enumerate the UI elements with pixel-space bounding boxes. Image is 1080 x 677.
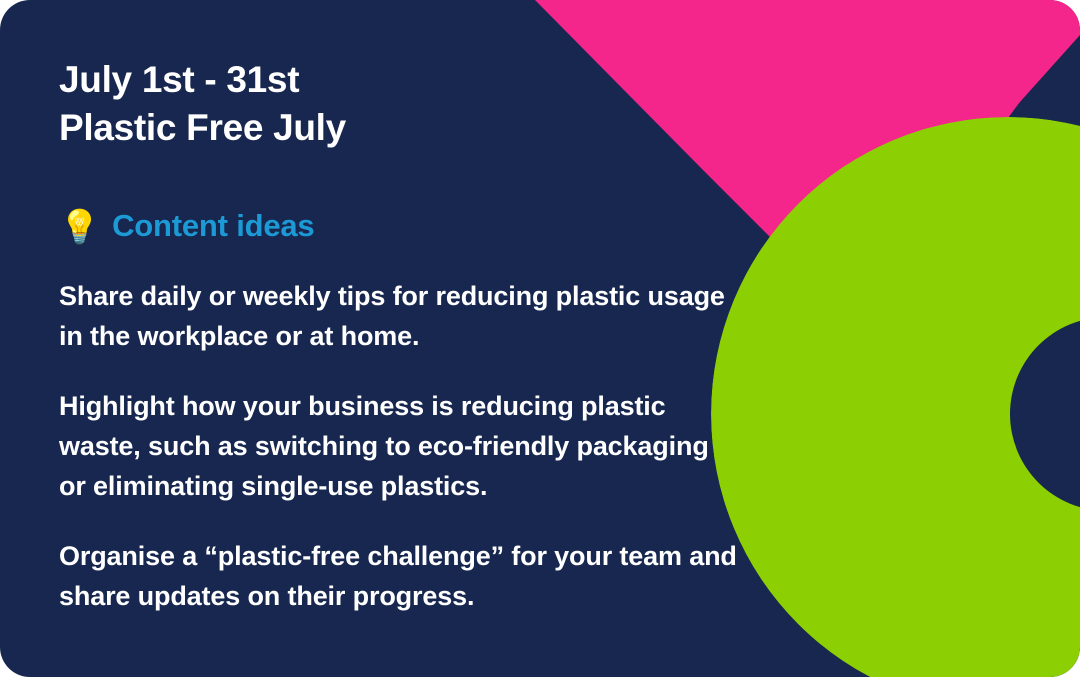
card-content: July 1st - 31st Plastic Free July 💡 Cont… <box>0 0 760 617</box>
content-ideas-card: July 1st - 31st Plastic Free July 💡 Cont… <box>0 0 1080 677</box>
page-title: July 1st - 31st Plastic Free July <box>59 56 760 152</box>
pink-arrow-right-wing <box>835 0 1080 130</box>
list-item: Organise a “plastic-free challenge” for … <box>59 537 739 617</box>
content-ideas-heading: 💡 Content ideas <box>59 208 760 244</box>
lightbulb-icon: 💡 <box>59 210 100 243</box>
content-ideas-label: Content ideas <box>112 208 314 244</box>
content-ideas-list: Share daily or weekly tips for reducing … <box>59 277 760 617</box>
list-item: Highlight how your business is reducing … <box>59 387 739 507</box>
list-item: Share daily or weekly tips for reducing … <box>59 277 739 357</box>
green-ring-shape <box>711 117 1080 677</box>
